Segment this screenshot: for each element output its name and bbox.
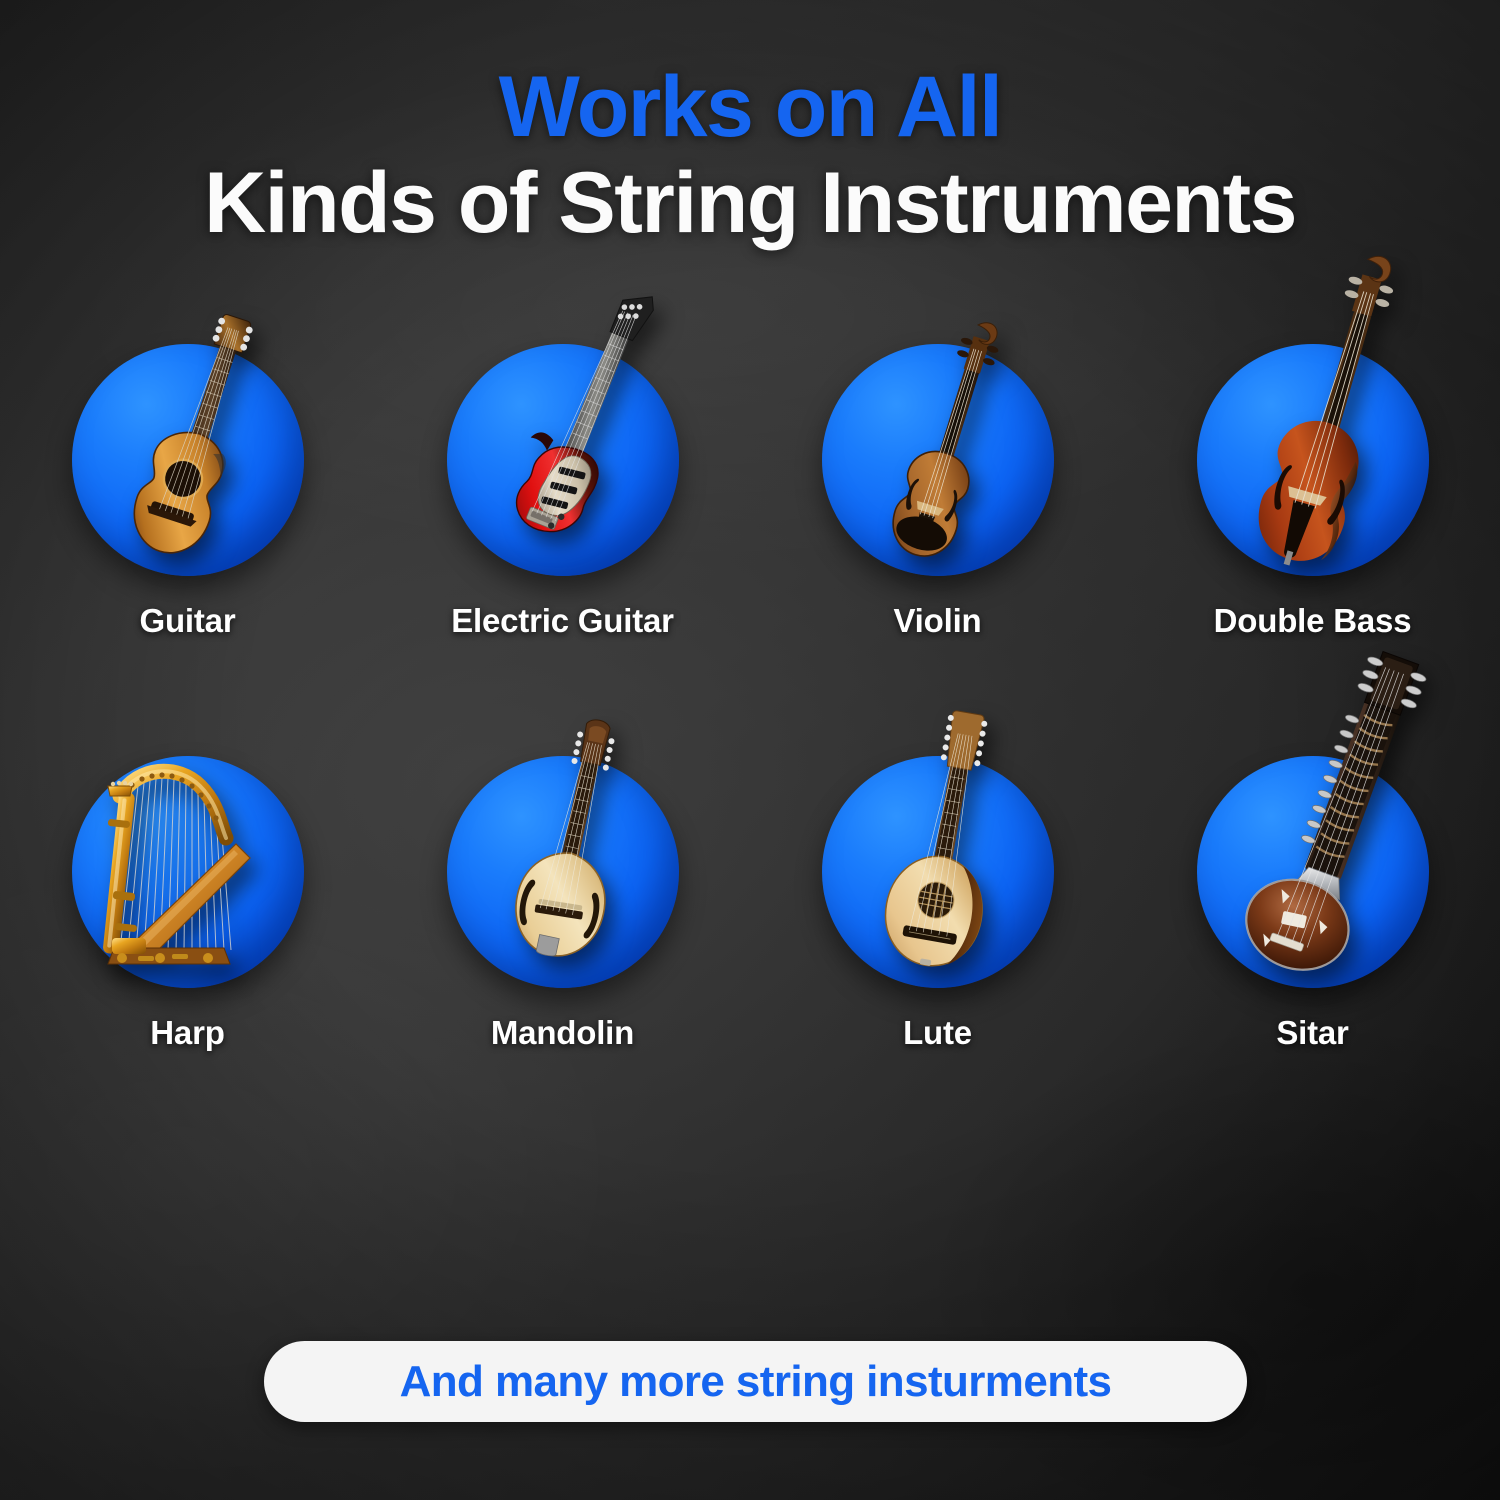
lute-icon (818, 752, 1058, 992)
instrument-disc (1193, 752, 1433, 992)
instrument-cell-harp[interactable]: Harp (0, 752, 375, 1052)
instrument-cell-double-bass[interactable]: Double Bass (1125, 340, 1500, 640)
page-title: Works on All Kinds of String Instruments (0, 62, 1500, 251)
instrument-cell-lute[interactable]: Lute (750, 752, 1125, 1052)
electric-guitar-icon (443, 340, 683, 580)
instrument-cell-violin[interactable]: Violin (750, 340, 1125, 640)
mandolin-icon (443, 752, 683, 992)
acoustic-guitar-icon (68, 340, 308, 580)
instrument-disc (68, 752, 308, 992)
instrument-label: Lute (903, 1014, 972, 1052)
instrument-label: Sitar (1276, 1014, 1348, 1052)
instrument-label: Double Bass (1214, 602, 1412, 640)
harp-icon (68, 752, 308, 992)
instrument-label: Harp (150, 1014, 224, 1052)
instrument-row: Guitar (0, 340, 1500, 640)
double-bass-icon (1193, 340, 1433, 580)
instrument-disc (818, 340, 1058, 580)
title-line-1: Works on All (0, 62, 1500, 153)
instrument-label: Electric Guitar (451, 602, 674, 640)
instrument-row: Harp (0, 752, 1500, 1052)
title-line-2: Kinds of String Instruments (0, 155, 1500, 251)
instrument-cell-guitar[interactable]: Guitar (0, 340, 375, 640)
instrument-cell-electric-guitar[interactable]: Electric Guitar (375, 340, 750, 640)
instrument-disc (1193, 340, 1433, 580)
instrument-cell-sitar[interactable]: Sitar (1125, 752, 1500, 1052)
instrument-grid: Guitar (0, 340, 1500, 1052)
violin-icon (818, 340, 1058, 580)
sitar-icon (1193, 752, 1433, 992)
instrument-disc (443, 340, 683, 580)
banner-text: And many more string insturments (400, 1357, 1112, 1407)
instrument-disc (443, 752, 683, 992)
instrument-label: Guitar (140, 602, 236, 640)
instrument-cell-mandolin[interactable]: Mandolin (375, 752, 750, 1052)
instrument-disc (818, 752, 1058, 992)
instrument-label: Mandolin (491, 1014, 634, 1052)
promo-graphic: Works on All Kinds of String Instruments (0, 0, 1500, 1500)
instrument-label: Violin (893, 602, 981, 640)
instrument-disc (68, 340, 308, 580)
more-instruments-banner[interactable]: And many more string insturments (264, 1341, 1247, 1422)
